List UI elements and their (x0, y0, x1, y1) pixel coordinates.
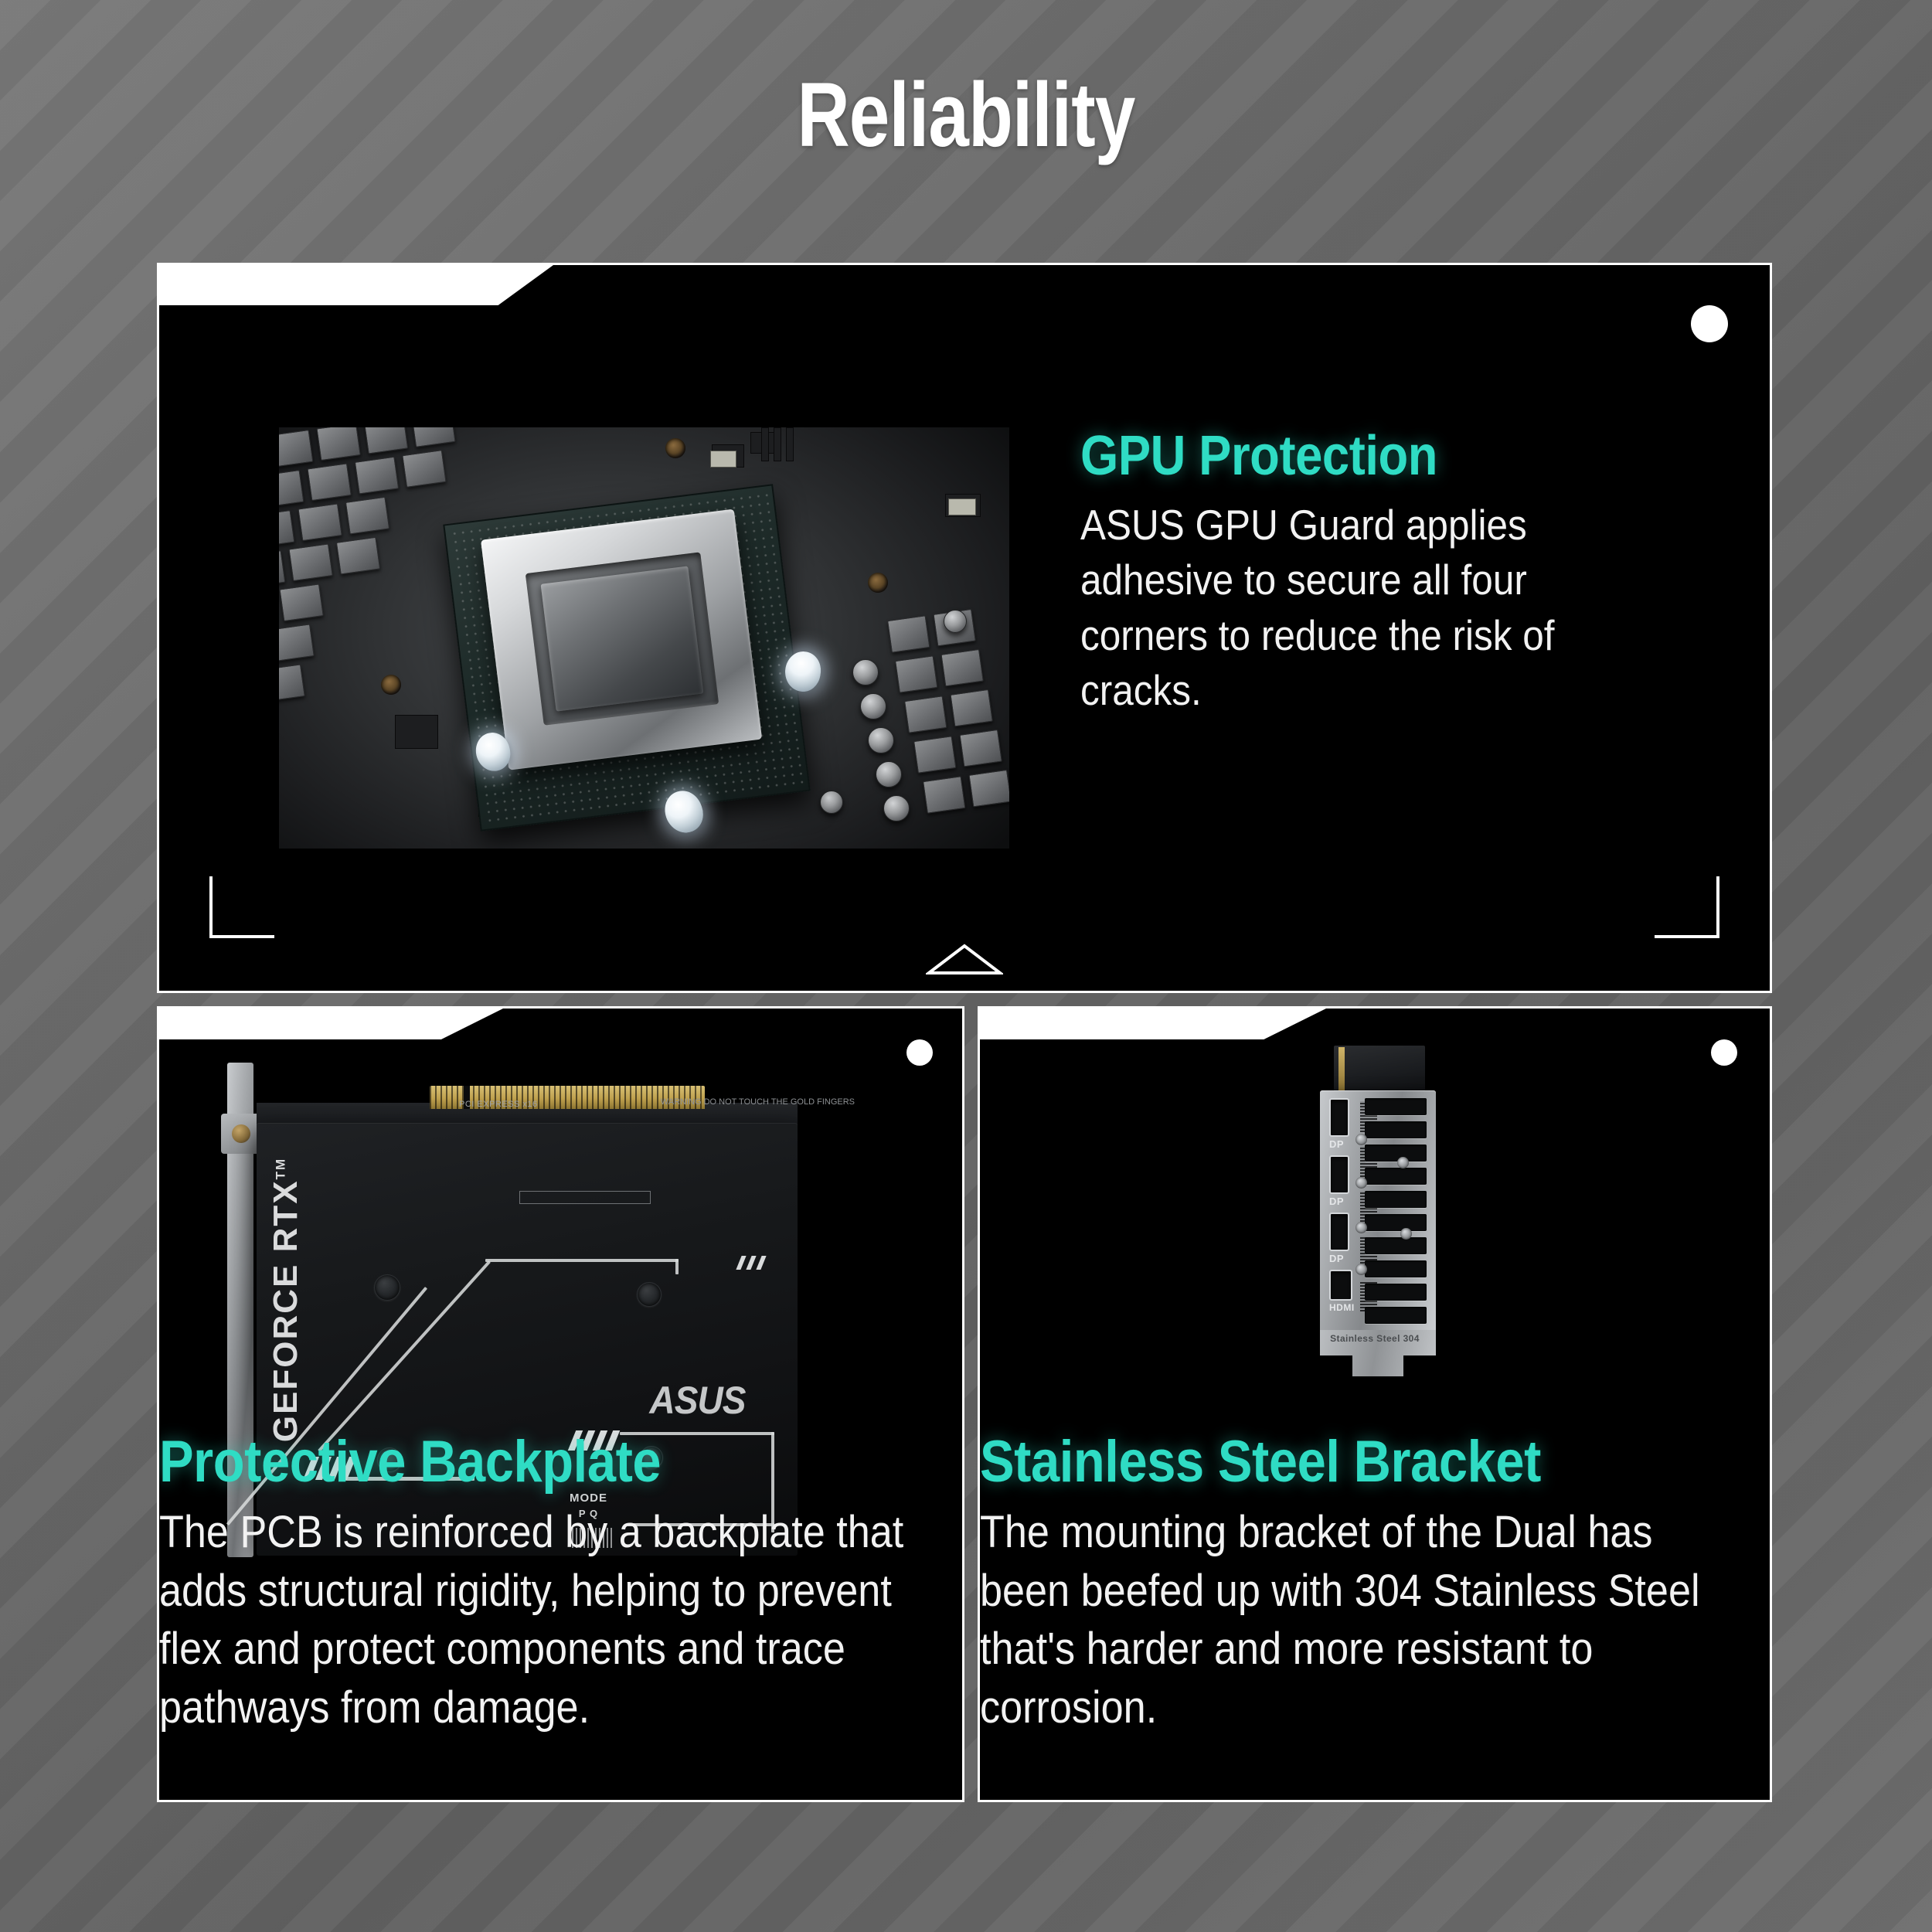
status-dot-icon (906, 1039, 933, 1066)
hdmi-connector (1329, 1270, 1352, 1301)
bracket-corner-mark-icon (209, 876, 274, 938)
asus-logo: ASUS (649, 1378, 745, 1423)
backplate-text: Protective Backplate The PCB is reinforc… (159, 1431, 917, 1736)
bracket-screw-icon (1397, 1157, 1409, 1168)
infographic-stage: Reliability (0, 0, 1932, 1932)
gpu-protection-text: GPU Protection ASUS GPU Guard applies ad… (1080, 427, 1668, 719)
port-label: DP (1329, 1196, 1344, 1207)
panel-heading: Protective Backplate (159, 1431, 825, 1492)
bracket-screw-icon (1355, 1264, 1367, 1275)
displayport-connector (1329, 1155, 1349, 1194)
bracket-screw-icon (1355, 1222, 1367, 1233)
panel-body: ASUS GPU Guard applies adhesive to secur… (1080, 498, 1658, 719)
panel-body: The PCB is reinforced by a backplate tha… (159, 1503, 910, 1736)
panel-header-band (980, 1009, 1326, 1039)
page-title: Reliability (193, 70, 1739, 161)
port-label: DP (1329, 1253, 1344, 1264)
panel-header-band (159, 1009, 503, 1039)
bracket-text: Stainless Steel Bracket The mounting bra… (980, 1431, 1722, 1736)
panel-gpu-protection: GPU Protection ASUS GPU Guard applies ad… (157, 263, 1772, 993)
panel-heading: Stainless Steel Bracket (980, 1431, 1633, 1492)
port-label: HDMI (1329, 1302, 1355, 1313)
card-shroud (1334, 1046, 1425, 1094)
bracket-screw-icon (232, 1124, 250, 1143)
backplate-warning-text: WARNING DO NOT TOUCH THE GOLD FINGERS (661, 1097, 855, 1107)
gpu-die-image (279, 427, 1009, 849)
panel-heading: GPU Protection (1080, 427, 1597, 485)
silicon-die (541, 566, 704, 711)
backplate-screw-icon (374, 1274, 400, 1301)
pcie-caption: PCI EXPRESS x16 (459, 1100, 538, 1109)
status-dot-icon (1691, 305, 1728, 342)
status-dot-icon (1711, 1039, 1737, 1066)
heat-spreader (481, 509, 762, 770)
panel-header-band (159, 265, 553, 305)
bracket-screw-icon (1355, 1134, 1367, 1145)
panel-body: The mounting bracket of the Dual has bee… (980, 1503, 1724, 1736)
port-label: DP (1329, 1138, 1344, 1150)
backplate-screw-icon (637, 1282, 662, 1307)
panel-stainless-steel-bracket: DP DP DP HDMI Stainless Steel 304 S (978, 1006, 1772, 1802)
panel-protective-backplate: PCI EXPRESS x16 WARNING DO NOT TOUCH THE… (157, 1006, 964, 1802)
bracket-corner-mark-icon (1655, 876, 1719, 938)
displayport-connector (1329, 1213, 1349, 1251)
pcie-tab (1338, 1047, 1345, 1090)
geforce-rtx-branding: GEFORCE RTXTM (267, 1158, 305, 1442)
bracket-plate: DP DP DP HDMI (1320, 1090, 1436, 1336)
bracket-screw-icon (1355, 1177, 1367, 1189)
bracket-material-label: Stainless Steel 304 (1294, 1333, 1456, 1344)
gpu-package (443, 484, 811, 831)
displayport-connector (1329, 1098, 1349, 1137)
bracket-screw-icon (1400, 1228, 1412, 1240)
io-bracket-image: DP DP DP HDMI Stainless Steel 304 (1294, 1046, 1456, 1378)
